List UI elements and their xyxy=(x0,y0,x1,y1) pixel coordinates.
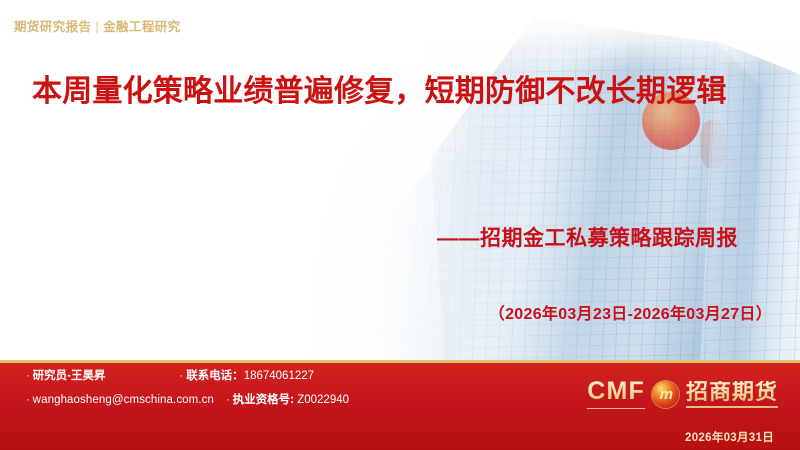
footer-certificate: ·执业资格号: Z0022940 xyxy=(226,394,349,407)
logo-chinese-text: 招商期货 xyxy=(686,381,778,408)
logo-emblem-glyph: m xyxy=(652,381,679,408)
footer-bar: ·研究员-王昊昇 ·联系电话：18674061227 ·wanghaosheng… xyxy=(0,360,800,450)
footer-contact-row-1: ·研究员-王昊昇 ·联系电话：18674061227 xyxy=(26,370,349,383)
footer-phone: ·联系电话：18674061227 xyxy=(180,370,315,383)
company-logo: CMF m 招商期货 xyxy=(587,377,778,411)
footer-phone-label: 联系电话： xyxy=(186,370,244,383)
kicker-department: 金融工程研究 xyxy=(103,20,180,34)
logo-latin-text: CMF xyxy=(587,379,645,409)
report-kicker: 期货研究报告|金融工程研究 xyxy=(14,16,180,35)
bullet-icon: · xyxy=(26,395,30,406)
footer-analyst-label: 研究员- xyxy=(33,370,71,383)
footer-phone-value: 18674061227 xyxy=(244,370,314,383)
footer-contact-block: ·研究员-王昊昇 ·联系电话：18674061227 ·wanghaosheng… xyxy=(26,370,349,417)
bullet-icon: · xyxy=(26,371,30,382)
footer-email-value[interactable]: wanghaosheng@cmschina.com.cn xyxy=(33,394,214,407)
bullet-icon: · xyxy=(226,395,230,406)
kicker-category: 期货研究报告 xyxy=(14,20,91,34)
report-date-range: （2026年03月23日-2026年03月27日） xyxy=(489,300,772,324)
report-cover-slide: 期货研究报告|金融工程研究 本周量化策略业绩普遍修复，短期防御不改长期逻辑 ——… xyxy=(0,0,800,450)
footer-analyst: ·研究员-王昊昇 xyxy=(26,370,106,383)
footer-analyst-name: 王昊昇 xyxy=(71,370,106,383)
page-title: 本周量化策略业绩普遍修复，短期防御不改长期逻辑 xyxy=(32,72,758,112)
bullet-icon: · xyxy=(180,371,184,382)
footer-email[interactable]: ·wanghaosheng@cmschina.com.cn xyxy=(26,394,214,407)
kicker-separator: | xyxy=(91,20,103,34)
footer-cert-value: Z0022940 xyxy=(297,394,349,407)
logo-emblem-icon: m xyxy=(652,381,679,408)
footer-contact-row-2: ·wanghaosheng@cmschina.com.cn ·执业资格号: Z0… xyxy=(26,394,349,407)
publish-date: 2026年03月31日 xyxy=(685,429,774,445)
page-subtitle: ——招期金工私募策略跟踪周报 xyxy=(437,222,738,252)
footer-cert-label: 执业资格号: xyxy=(233,394,294,407)
background-top-fade-overlay xyxy=(300,0,800,72)
